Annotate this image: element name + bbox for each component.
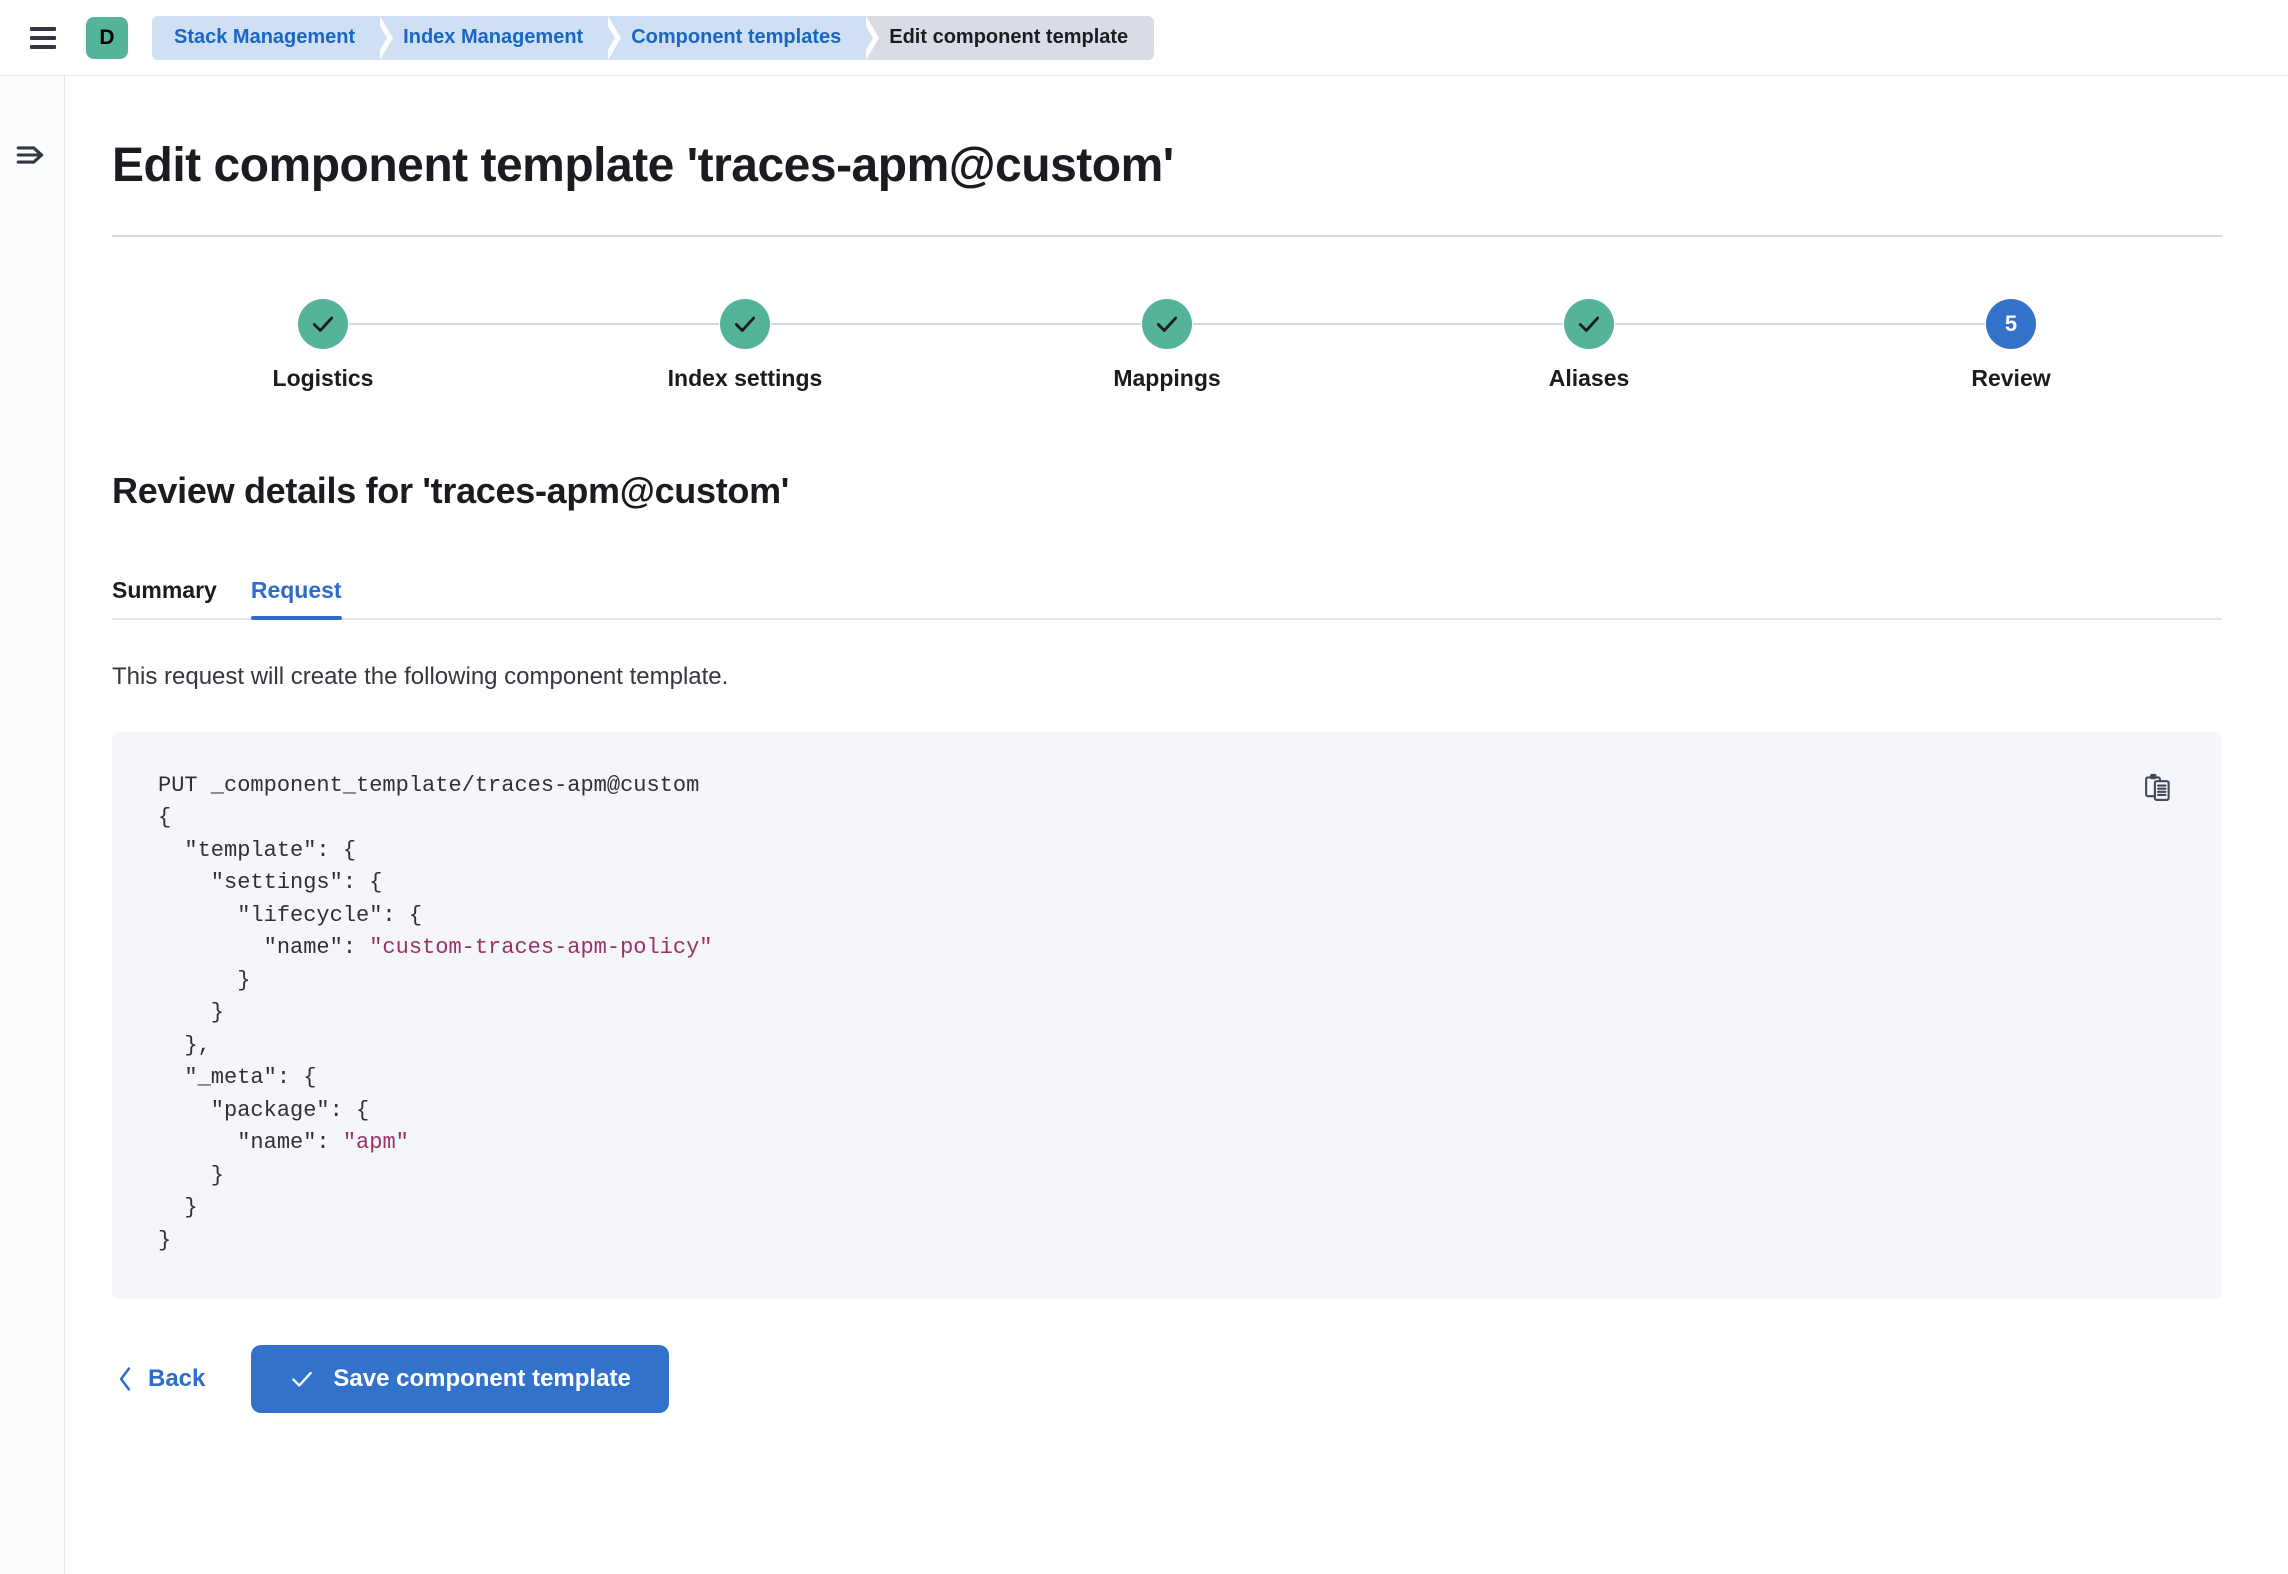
code-line-5: "lifecycle": { [158, 903, 422, 928]
step-indicator-check-icon [1564, 299, 1614, 349]
wizard-stepper: Logistics Index settings Mappings [112, 299, 2222, 392]
step-indicator-check-icon [1142, 299, 1192, 349]
save-button-label: Save component template [333, 1365, 630, 1393]
tab-summary[interactable]: Summary [112, 577, 217, 618]
breadcrumb: Stack Management Index Management Compon… [152, 16, 1154, 60]
hamburger-bar-2 [30, 36, 56, 40]
footer-actions: Back Save component template [112, 1345, 2222, 1413]
step-label-review: Review [1971, 365, 2050, 392]
code-line-2: { [158, 805, 171, 830]
code-line-12-key: "name": [158, 1130, 343, 1155]
back-button[interactable]: Back [112, 1357, 209, 1401]
code-line-1: PUT _component_template/traces-apm@custo… [158, 773, 699, 798]
step-index-settings[interactable]: Index settings [534, 299, 956, 392]
code-line-14: } [158, 1195, 198, 1220]
request-description: This request will create the following c… [112, 660, 2222, 694]
request-code-panel: PUT _component_template/traces-apm@custo… [112, 732, 2222, 1300]
chevron-left-icon [116, 1366, 134, 1392]
code-line-6-key: "name": [158, 935, 369, 960]
hamburger-menu-icon[interactable] [26, 21, 60, 55]
code-line-13: } [158, 1163, 224, 1188]
step-indicator-check-icon [720, 299, 770, 349]
breadcrumb-item-index-management[interactable]: Index Management [375, 16, 603, 60]
main-content-area: Edit component template 'traces-apm@cust… [66, 76, 2288, 1574]
step-logistics[interactable]: Logistics [112, 299, 534, 392]
save-component-template-button[interactable]: Save component template [251, 1345, 668, 1413]
step-label-aliases: Aliases [1549, 365, 1630, 392]
code-line-10: "_meta": { [158, 1065, 316, 1090]
step-connector-right [771, 323, 956, 325]
code-line-6-value: "custom-traces-apm-policy" [369, 935, 712, 960]
code-line-12-value: "apm" [343, 1130, 409, 1155]
breadcrumb-item-stack-management[interactable]: Stack Management [152, 16, 375, 60]
step-connector-left [1800, 323, 1985, 325]
step-label-mappings: Mappings [1113, 365, 1220, 392]
code-line-15: } [158, 1228, 171, 1253]
breadcrumb-item-edit-component-template: Edit component template [861, 16, 1154, 60]
expand-sidebar-icon[interactable] [14, 138, 48, 172]
back-button-label: Back [148, 1365, 205, 1393]
step-connector-left [534, 323, 719, 325]
step-connector-left [1378, 323, 1563, 325]
code-line-7: } [158, 968, 250, 993]
space-avatar[interactable]: D [86, 17, 128, 59]
step-connector-right [349, 323, 534, 325]
hamburger-bar-1 [30, 27, 56, 31]
step-indicator-number: 5 [1986, 299, 2036, 349]
step-review[interactable]: 5 Review [1800, 299, 2222, 392]
code-line-11: "package": { [158, 1098, 369, 1123]
code-line-9: }, [158, 1033, 211, 1058]
review-tabs: Summary Request [112, 564, 2222, 620]
step-connector-right [1615, 323, 1800, 325]
step-indicator-check-icon [298, 299, 348, 349]
top-chrome-bar: D Stack Management Index Management Comp… [0, 0, 2288, 76]
step-connector-right [1193, 323, 1378, 325]
hamburger-bar-3 [30, 45, 56, 49]
breadcrumb-item-component-templates[interactable]: Component templates [603, 16, 861, 60]
request-code-body: PUT _component_template/traces-apm@custo… [158, 770, 2176, 1258]
code-line-4: "settings": { [158, 870, 382, 895]
code-line-8: } [158, 1000, 224, 1025]
check-icon [289, 1366, 315, 1392]
code-line-3: "template": { [158, 838, 356, 863]
step-connector-left [956, 323, 1141, 325]
review-heading: Review details for 'traces-apm@custom' [112, 470, 2222, 512]
step-aliases[interactable]: Aliases [1378, 299, 1800, 392]
step-label-index-settings: Index settings [668, 365, 823, 392]
left-navigation-rail [0, 76, 65, 1574]
copy-clipboard-icon[interactable] [2138, 768, 2178, 808]
tab-request[interactable]: Request [251, 577, 342, 618]
step-mappings[interactable]: Mappings [956, 299, 1378, 392]
title-divider [112, 235, 2222, 237]
step-label-logistics: Logistics [273, 365, 374, 392]
page-title: Edit component template 'traces-apm@cust… [112, 138, 2222, 193]
